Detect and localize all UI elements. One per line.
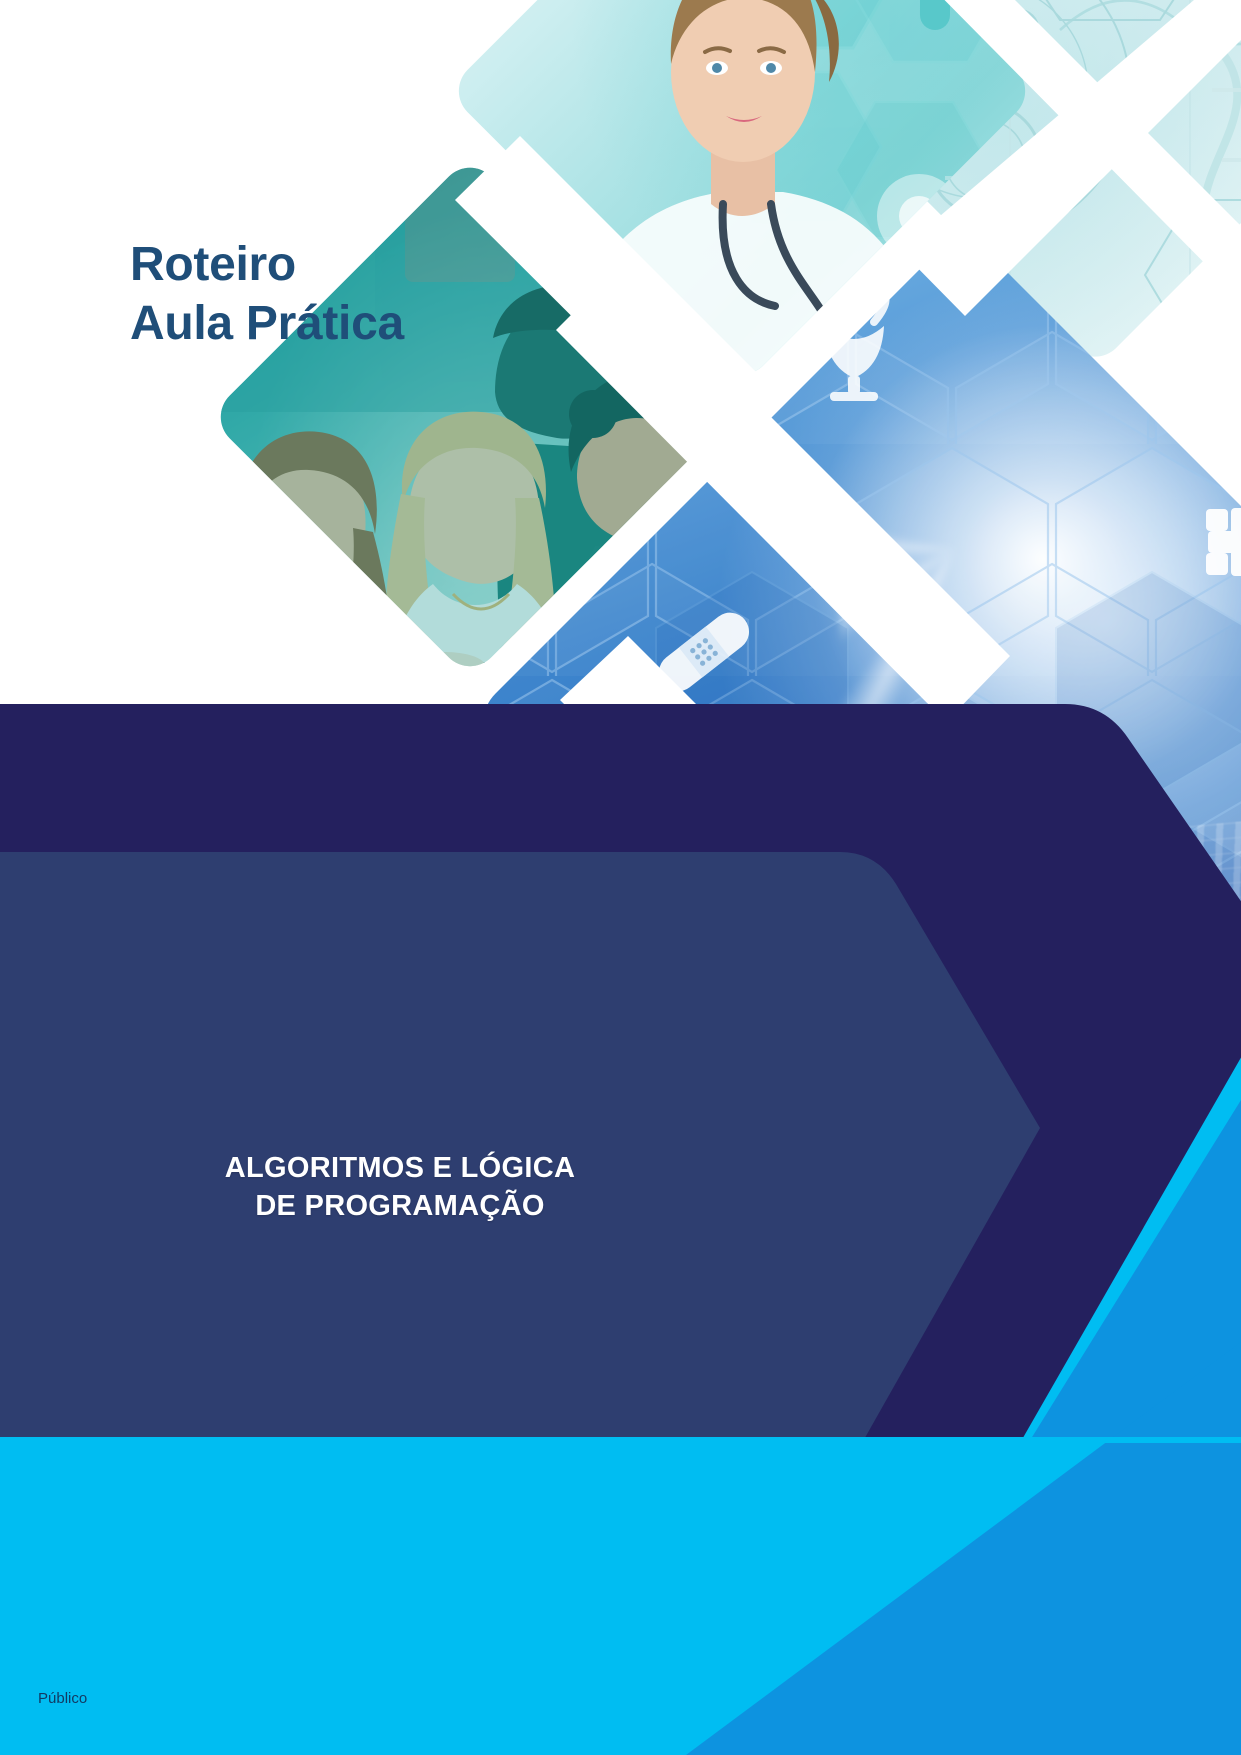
pill-capsule-icon [920,0,950,30]
medical-cross-icon [1206,508,1241,576]
bandage-icon [651,605,756,699]
classification-label: Público [38,1690,87,1707]
bowl-of-hygieia-icon [824,286,886,401]
page-title: Roteiro Aula Prática [130,236,404,353]
course-title: ALGORITMOS E LÓGICA DE PROGRAMAÇÃO [0,1150,800,1225]
up-arrow-icon [1102,788,1162,878]
cover-page: Roteiro Aula Prática ALGORITMOS E LÓGICA… [0,0,1241,1755]
